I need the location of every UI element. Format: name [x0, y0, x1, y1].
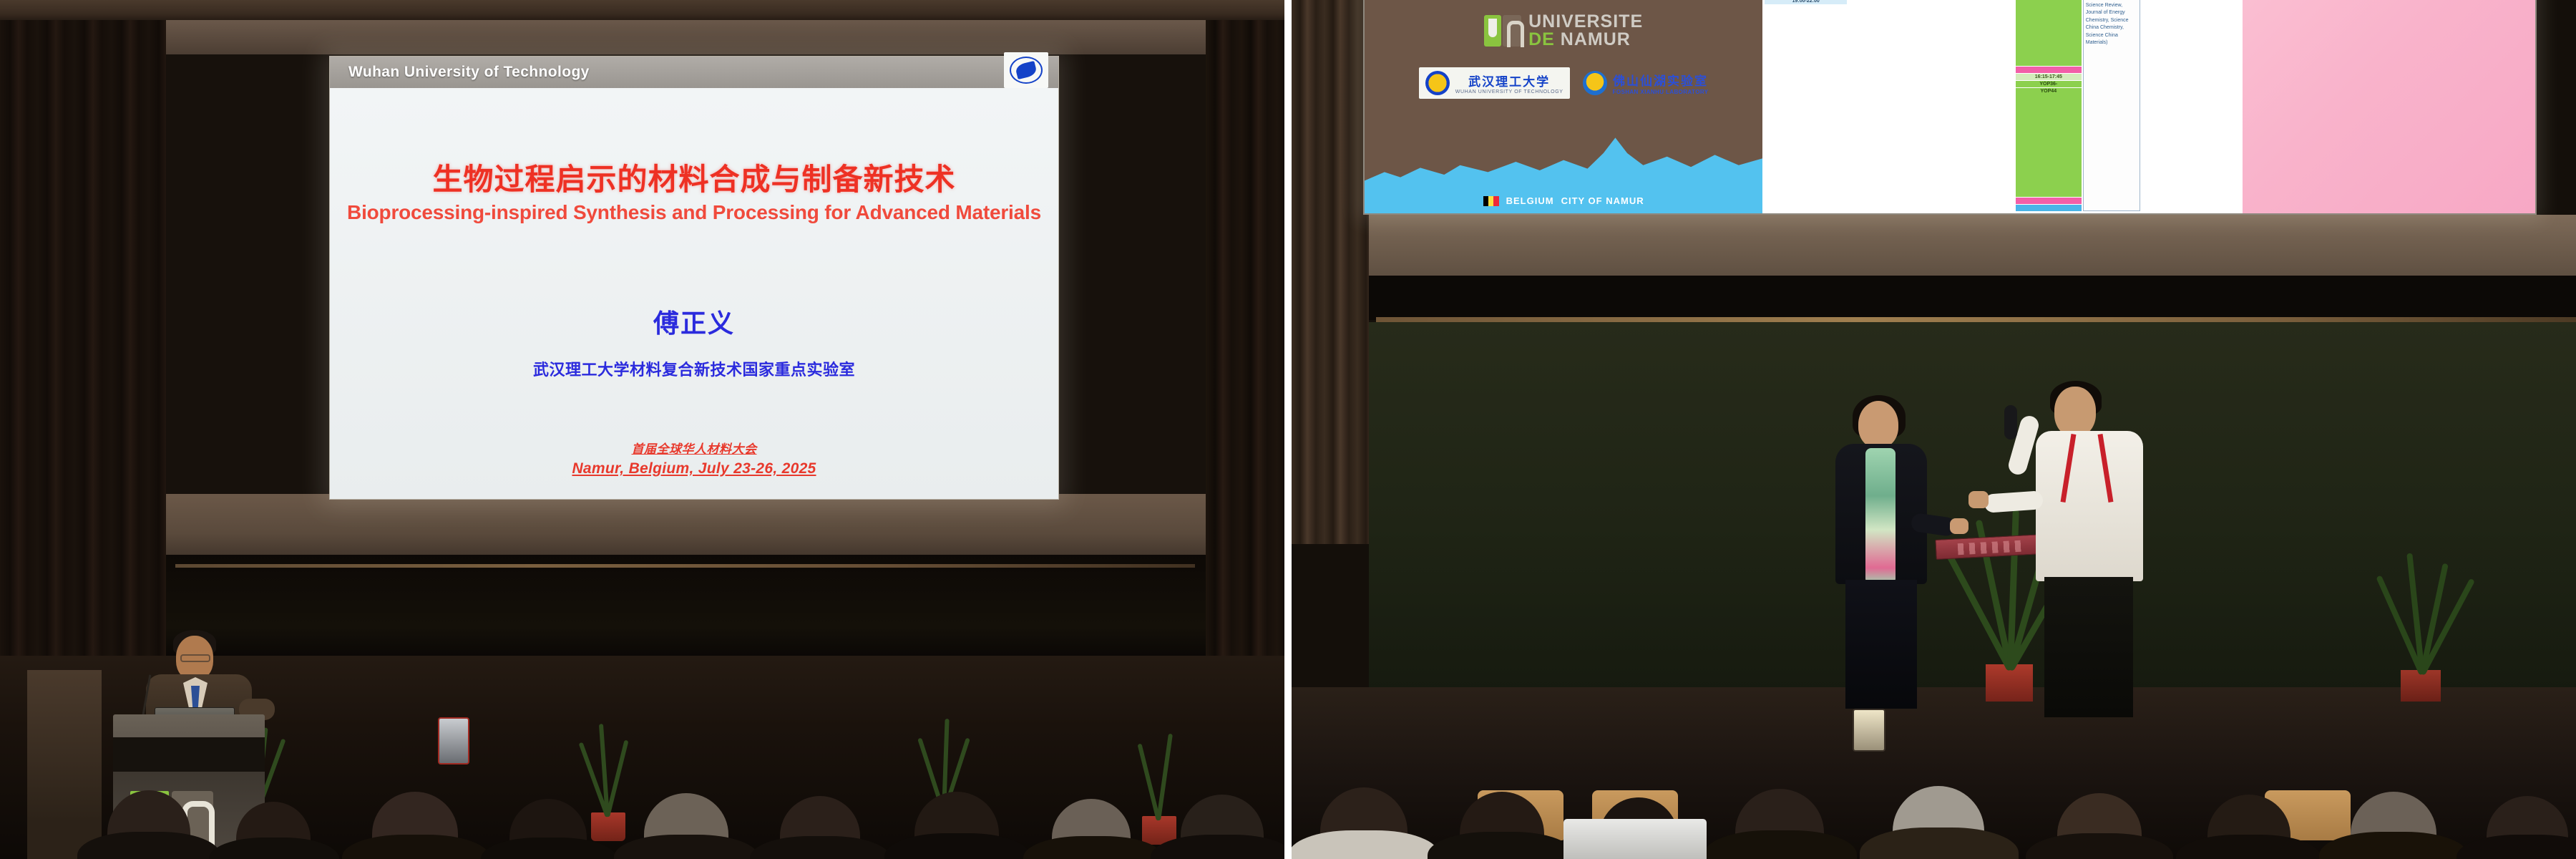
audience-shoulder [342, 835, 489, 859]
wut-name-english: WUHAN UNIVERSITY OF TECHNOLOGY [1455, 89, 1563, 94]
audience-shoulder [884, 833, 1030, 859]
audience-shoulder [481, 838, 617, 859]
slide-conference-name-chinese: 首届全球华人材料大会 [330, 439, 1058, 457]
audience-shoulder [1151, 835, 1284, 859]
audience-shoulder [209, 838, 339, 859]
recipient-head [1858, 401, 1898, 448]
wall-rail [175, 564, 1195, 568]
forum-row: SCP Science China Press (National Scienc… [2086, 0, 2137, 47]
schedule-column-session3: INL3-17 INL3-18 INL3-19 OP3-5 OP3-6 KN12… [1932, 0, 2014, 211]
recipient-hand [1950, 518, 1968, 534]
audience-shoulder [614, 835, 758, 859]
recipient-trousers [1845, 580, 1917, 709]
namur-name: NAMUR [1561, 29, 1631, 49]
slide-title-chinese: 生物过程启示的材料合成与制备新技术 [330, 155, 1058, 199]
schedule-spacer [2016, 198, 2082, 204]
audience-shoulder [1428, 832, 1575, 859]
schedule-banquet-time: 19:00-22:00 [1765, 0, 1847, 4]
left-photo-keynote-presentation: Wuhan University of Technology 生物过程启示的材料… [0, 0, 1284, 859]
audience-shoulder [1023, 836, 1163, 859]
foshan-seal-icon [1583, 71, 1607, 95]
projection-screen: UNIVERSITE DE NAMUR 武汉理工大学 [1363, 0, 2537, 215]
wuhan-university-of-technology-logo [1004, 52, 1048, 88]
ceiling [0, 0, 1284, 21]
wut-seal-icon [1425, 71, 1450, 95]
audience-phone [438, 717, 469, 765]
schedule-column-closing: PL15 Closing Ceremony & Prizes Closing S… [2142, 0, 2240, 211]
schedule-cell: YOP44 [2016, 88, 2082, 197]
slide-affiliation: 武汉理工大学材料复合新技术国家重点实验室 [330, 357, 1058, 380]
audience-shoulder [2319, 832, 2468, 859]
presenter-hand [1968, 491, 1989, 508]
schedule-column-times: 11:30 12:00 13:30- 14:00 PM KEY PL Plena… [2083, 0, 2140, 211]
schedule-cell: 16:15-17:45 [2016, 74, 2082, 80]
audience-shoulder [2457, 835, 2576, 859]
schedule-filler [2142, 0, 2240, 211]
namur-line-1: UNIVERSITE [1528, 13, 1643, 31]
schedule-cell: YOP35 [2016, 0, 2082, 66]
slide-conference-location-date: Namur, Belgium, July 23-26, 2025 [330, 460, 1058, 477]
schedule-key-legend: KEY PL Plenary lecture 25 min + 5 min Q&… [2083, 0, 2140, 211]
stage-curtain [1292, 0, 1369, 544]
presenter-arm-extended [1984, 490, 2044, 513]
wut-name-chinese: 武汉理工大学 [1455, 72, 1563, 89]
slide-header-university-name: Wuhan University of Technology [348, 64, 590, 81]
forum-label: Science China Press (National Science Re… [2086, 0, 2130, 45]
schedule-spacer [2016, 67, 2082, 73]
universite-de-namur-logo [1484, 15, 1521, 47]
slide-logo-panel: UNIVERSITE DE NAMUR 武汉理工大学 [1365, 0, 1762, 213]
wooden-rail [1376, 317, 2576, 322]
presenter-head [2054, 387, 2096, 437]
recipient-scarf [1865, 448, 1896, 584]
audience-shoulder [1704, 830, 1857, 859]
presenter-shirt [2036, 431, 2143, 581]
stage-curtain-right [1206, 20, 1284, 686]
slide-header-bar: Wuhan University of Technology [330, 57, 1058, 88]
eyeglasses [180, 654, 210, 662]
audience-shoulder [750, 836, 890, 859]
schedule-column-session1: INL1-17 INL1-18 INL1-19 OP1-5 OP1-6 Lunc… [1765, 0, 1847, 211]
belgium-flag-icon [1483, 196, 1499, 206]
potted-plant [2358, 501, 2487, 702]
slide-title-english: Bioprocessing-inspired Synthesis and Pro… [330, 201, 1058, 224]
partner-logos-row: 武汉理工大学 WUHAN UNIVERSITY OF TECHNOLOGY 佛山… [1365, 67, 1762, 99]
namur-de: DE [1528, 29, 1555, 49]
slide-sponsors-panel: GCMC2025支持单位 广东省院士联合会 中国科学出版社 交叉学科材料 OAE… [2243, 0, 2535, 213]
city-label: CITY OF NAMUR [1561, 195, 1644, 206]
wall-dark-band [1369, 276, 2576, 320]
universite-de-namur-block: UNIVERSITE DE NAMUR [1365, 13, 1762, 49]
schedule-grid: INL1-17 INL1-18 INL1-19 OP1-5 OP1-6 Lunc… [1765, 0, 2240, 211]
audience-shoulder [2176, 835, 2321, 859]
schedule-column-session2: INL2-17 INL2-18 INL2-19 OP2-5 OP2-6 KN8 … [1848, 0, 1931, 211]
collage-divider [1284, 0, 1292, 859]
photo-collage: Wuhan University of Technology 生物过程启示的材料… [0, 0, 2576, 859]
audience-laptop [1563, 819, 1707, 859]
stage-wall-dark [166, 555, 1206, 659]
audience-phone [1853, 709, 1885, 752]
conference-schedule-table: INL1-17 INL1-18 INL1-19 OP1-5 OP1-6 Lunc… [1762, 0, 2243, 213]
skyline-caption: BELGIUM CITY OF NAMUR [1365, 195, 1762, 206]
schedule-cell: YOP36- [2016, 81, 2082, 87]
audience-shoulder [1292, 830, 1439, 859]
slide-body: 生物过程启示的材料合成与制备新技术 Bioprocessing-inspired… [330, 88, 1058, 499]
audience-left [0, 694, 1284, 859]
award-presenter [2029, 387, 2165, 716]
right-photo-award-presentation: UNIVERSITE DE NAMUR 武汉理工大学 [1292, 0, 2576, 859]
foshan-xianhu-laboratory-logo: 佛山仙湖实验室 FOSHAN XIANHU LABORATORY [1583, 71, 1709, 95]
audience-shoulder [1860, 828, 2019, 859]
audience-shoulder [77, 832, 220, 859]
wall-beam [1369, 215, 2576, 281]
audience-shoulder [2026, 833, 2173, 859]
audience-right [1292, 694, 2576, 859]
foshan-name-chinese: 佛山仙湖实验室 [1613, 71, 1709, 89]
award-recipient [1821, 401, 1950, 709]
schedule-column-young-scholar: YOP19- YOP26 14:00-15:30 YOP27- YOP35 16… [2016, 0, 2082, 211]
projection-screen: Wuhan University of Technology 生物过程启示的材料… [329, 56, 1059, 500]
upper-wall [166, 20, 1206, 54]
foshan-name-english: FOSHAN XIANHU LABORATORY [1613, 89, 1709, 95]
microphone [2004, 405, 2017, 440]
country-label: BELGIUM [1506, 195, 1554, 206]
wuhan-university-of-technology-logo: 武汉理工大学 WUHAN UNIVERSITY OF TECHNOLOGY [1419, 67, 1570, 99]
schedule-spacer [2016, 205, 2082, 211]
slide-content: UNIVERSITE DE NAMUR 武汉理工大学 [1365, 0, 2535, 213]
stage-curtain-left [0, 20, 166, 686]
slide-speaker-name: 傅正义 [330, 303, 1058, 340]
